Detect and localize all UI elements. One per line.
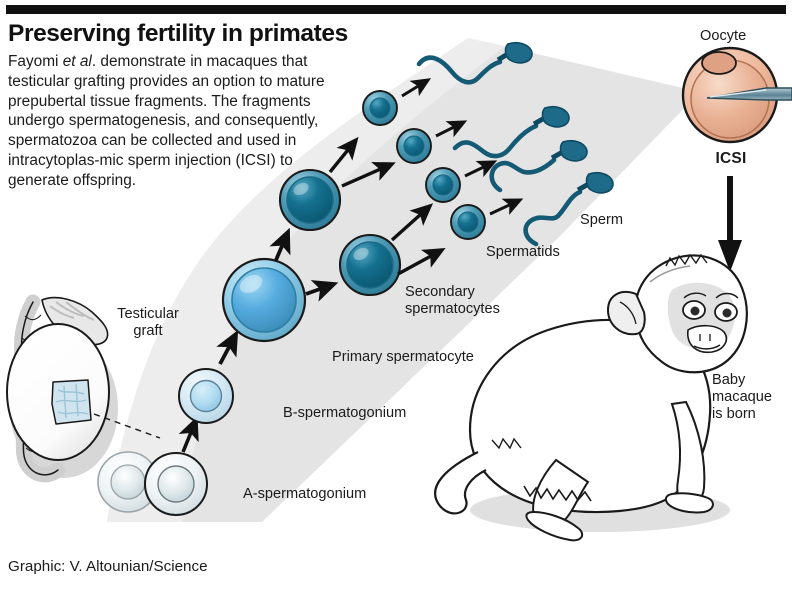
cell-spermatid-2 xyxy=(397,129,431,163)
label-sperm: Sperm xyxy=(580,212,623,229)
label-secondary-spermatocytes: Secondary spermatocytes xyxy=(405,284,500,318)
label-oocyte: Oocyte xyxy=(700,28,746,45)
label-icsi: ICSI xyxy=(700,150,762,168)
cell-a-spermatogonium xyxy=(145,453,207,515)
cell-secondary-spermatocyte-2 xyxy=(340,235,400,295)
cell-spermatid-3 xyxy=(426,168,460,202)
cell-spermatid-1 xyxy=(363,91,397,125)
cell-b-spermatogonium xyxy=(179,369,233,423)
label-baby-macaque: Baby macaque is born xyxy=(712,372,772,424)
label-a-spermatogonium: A-spermatogonium xyxy=(243,486,366,503)
label-b-spermatogonium: B-spermatogonium xyxy=(283,405,406,422)
label-testicular-graft: Testicular graft xyxy=(100,306,196,340)
oocyte-illustration xyxy=(683,48,792,142)
cell-secondary-spermatocyte-1 xyxy=(280,170,340,230)
label-primary-spermatocyte: Primary spermatocyte xyxy=(332,349,474,366)
icsi-arrow xyxy=(718,176,742,272)
cell-spermatid-4 xyxy=(451,205,485,239)
infographic-canvas: Preserving fertility in primates Fayomi … xyxy=(0,0,792,600)
graphic-credit: Graphic: V. Altounian/Science xyxy=(8,558,208,575)
label-spermatids: Spermatids xyxy=(486,244,560,261)
diagram-artwork xyxy=(0,0,792,600)
cell-primary-spermatocyte xyxy=(223,259,305,341)
